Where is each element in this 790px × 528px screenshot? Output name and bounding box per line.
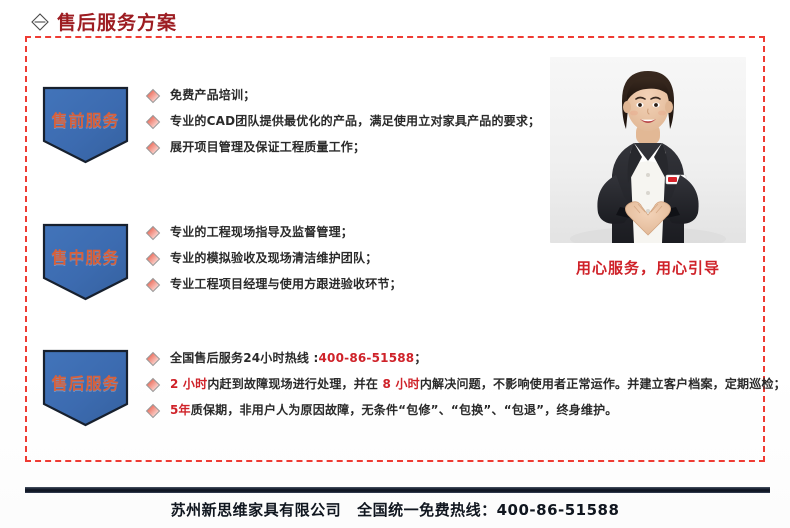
bullet-item: 专业的工程现场指导及监督管理； bbox=[145, 224, 558, 241]
bullet-text: 2 小时内赶到故障现场进行处理，并在 8 小时内解决问题，不影响使用者正常运作。… bbox=[170, 376, 786, 392]
bullet-item: 专业工程项目经理与使用方跟进验收环节； bbox=[145, 276, 558, 293]
bullet-item: 2 小时内赶到故障现场进行处理，并在 8 小时内解决问题，不影响使用者正常运作。… bbox=[145, 376, 786, 393]
bullet-text: 5年质保期，非用户人为原因故障，无条件“包修”、“包换”、“包退”，终身维护。 bbox=[170, 402, 617, 418]
bullet-item: 全国售后服务24小时热线 :400-86-51588； bbox=[145, 350, 786, 367]
diamond-bullet-icon bbox=[145, 88, 161, 104]
bullet-item: 专业的模拟验收及现场清洁维护团队； bbox=[145, 250, 558, 267]
diamond-bullet-icon bbox=[145, 403, 161, 419]
bullet-text: 免费产品培训； bbox=[170, 87, 255, 103]
page-title: 售后服务方案 bbox=[30, 8, 177, 35]
photo-caption: 用心服务，用心引导 bbox=[550, 257, 746, 278]
pentagon-badge-icon bbox=[38, 222, 133, 302]
page-title-text: 售后服务方案 bbox=[57, 8, 177, 35]
bullet-item: 免费产品培训； bbox=[145, 87, 558, 104]
bullet-list: 全国售后服务24小时热线 :400-86-51588； 2 小时内赶到故障现场进… bbox=[145, 348, 786, 419]
footer-company: 苏州新思维家具有限公司 bbox=[171, 501, 342, 519]
service-section-after-sales: 售后服务 全国售后服务24小时热线 :400-86-51588； 2 小时内赶到… bbox=[38, 348, 738, 428]
diamond-bullet-icon bbox=[145, 251, 161, 267]
diamond-bullet-icon bbox=[145, 225, 161, 241]
bullet-text: 专业的模拟验收及现场清洁维护团队； bbox=[170, 250, 377, 266]
diamond-minus-icon bbox=[30, 12, 50, 32]
bullet-item: 展开项目管理及保证工程质量工作； bbox=[145, 139, 558, 156]
badge-pre-sales: 售前服务 bbox=[38, 85, 133, 165]
customer-service-photo bbox=[550, 57, 746, 243]
bullet-text: 专业的工程现场指导及监督管理； bbox=[170, 224, 353, 240]
woman-heart-hands-illustration bbox=[550, 57, 746, 243]
bullet-text: 全国售后服务24小时热线 :400-86-51588； bbox=[170, 350, 427, 366]
service-section-pre-sales: 售前服务 免费产品培训； 专业的CAD团队提供最优化的产品，满足使用立对家具产品… bbox=[38, 85, 558, 165]
pentagon-badge-icon bbox=[38, 85, 133, 165]
bullet-text: 展开项目管理及保证工程质量工作； bbox=[170, 139, 365, 155]
bullet-text: 专业的CAD团队提供最优化的产品，满足使用立对家具产品的要求； bbox=[170, 113, 540, 129]
bullet-list: 专业的工程现场指导及监督管理； 专业的模拟验收及现场清洁维护团队； 专业工程项目… bbox=[145, 222, 558, 293]
diamond-bullet-icon bbox=[145, 351, 161, 367]
diamond-bullet-icon bbox=[145, 140, 161, 156]
diamond-bullet-icon bbox=[145, 114, 161, 130]
bullet-list: 免费产品培训； 专业的CAD团队提供最优化的产品，满足使用立对家具产品的要求； … bbox=[145, 85, 558, 156]
bullet-item: 专业的CAD团队提供最优化的产品，满足使用立对家具产品的要求； bbox=[145, 113, 558, 130]
footer-hotline: 全国统一免费热线：400-86-51588 bbox=[357, 501, 619, 519]
bullet-item: 5年质保期，非用户人为原因故障，无条件“包修”、“包换”、“包退”，终身维护。 bbox=[145, 402, 786, 419]
badge-in-sales: 售中服务 bbox=[38, 222, 133, 302]
footer-divider bbox=[25, 487, 770, 493]
bullet-text: 专业工程项目经理与使用方跟进验收环节； bbox=[170, 276, 402, 292]
pentagon-badge-icon bbox=[38, 348, 133, 428]
diamond-bullet-icon bbox=[145, 377, 161, 393]
diamond-bullet-icon bbox=[145, 277, 161, 293]
service-section-in-sales: 售中服务 专业的工程现场指导及监督管理； 专业的模拟验收及现场清洁维护团队； 专… bbox=[38, 222, 558, 302]
badge-after-sales: 售后服务 bbox=[38, 348, 133, 428]
footer-text: 苏州新思维家具有限公司全国统一免费热线：400-86-51588 bbox=[0, 499, 790, 520]
photo-block: 用心服务，用心引导 bbox=[550, 57, 746, 278]
